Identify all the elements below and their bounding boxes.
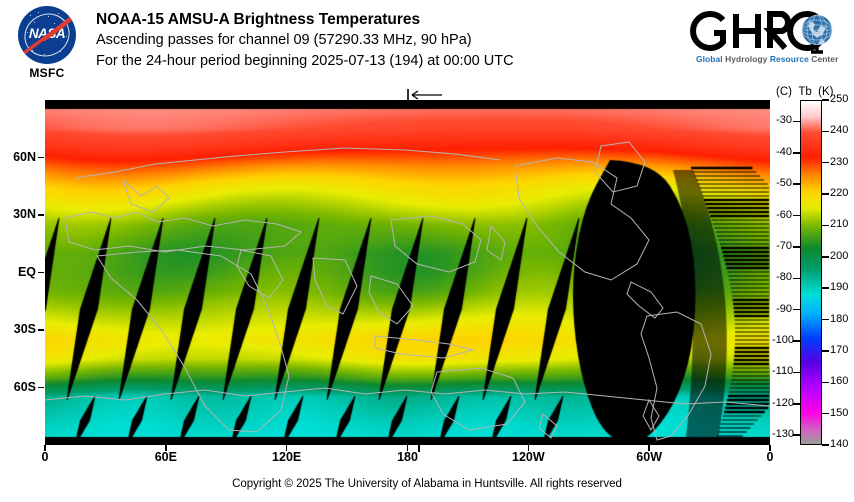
x-axis-tick-1 bbox=[165, 445, 167, 451]
x-axis-label-3: 180 bbox=[378, 450, 438, 464]
colorbar-tick-c-80 bbox=[793, 278, 800, 280]
nasa-meatball-icon: NASA bbox=[18, 6, 76, 64]
colorbar-label-k-170: 170 bbox=[830, 344, 854, 356]
coastline-segment-3 bbox=[97, 250, 289, 432]
colorbar-label-k-220: 220 bbox=[830, 187, 854, 199]
x-axis-label-1: 60E bbox=[136, 450, 196, 464]
colorbar-label-k-150: 150 bbox=[830, 407, 854, 419]
colorbar-label-c-90: -90 bbox=[772, 303, 792, 315]
x-axis-label-5: 60W bbox=[619, 450, 679, 464]
y-axis-label-30S: 30S bbox=[14, 322, 36, 336]
colorbar-label-c-100: -100 bbox=[772, 334, 792, 346]
ghrc-tagline-word-2: Resource bbox=[770, 54, 809, 64]
nasa-swoosh-icon bbox=[18, 10, 76, 62]
colorbar-tick-k-160 bbox=[822, 382, 829, 384]
colorbar-tick-k-180 bbox=[822, 319, 829, 321]
colorbar-tick-c-130 bbox=[793, 434, 800, 436]
colorbar-label-k-140: 140 bbox=[830, 438, 854, 450]
colorbar-tick-c-110 bbox=[793, 372, 800, 374]
colorbar-label-c-130: -130 bbox=[772, 428, 792, 440]
y-axis-tick-30S bbox=[38, 329, 44, 331]
colorbar-label-k-200: 200 bbox=[830, 250, 854, 262]
colorbar-label-c-40: -40 bbox=[772, 146, 792, 158]
x-axis-label-6: 0 bbox=[740, 450, 800, 464]
colorbar-variable: Tb bbox=[798, 86, 811, 98]
x-axis-tick-6 bbox=[769, 445, 771, 451]
coastline-segment-12 bbox=[595, 142, 645, 192]
y-axis-tick-EQ bbox=[38, 272, 44, 274]
x-axis-label-2: 120E bbox=[257, 450, 317, 464]
colorbar-tick-k-200 bbox=[822, 256, 829, 258]
coastline-segment-2 bbox=[123, 180, 169, 212]
colorbar-tick-k-210 bbox=[822, 225, 829, 227]
brightness-temperature-map[interactable] bbox=[45, 100, 770, 445]
coastline-segment-0 bbox=[75, 148, 500, 178]
coastline-segment-17 bbox=[643, 400, 659, 430]
title-block: NOAA-15 AMSU-A Brightness Temperatures A… bbox=[96, 9, 514, 72]
coastline-segment-16 bbox=[45, 388, 770, 406]
colorbar-tick-k-250 bbox=[822, 99, 829, 101]
page-subtitle-channel: Ascending passes for channel 09 (57290.3… bbox=[96, 30, 514, 51]
ghrc-tagline-word-1: Hydrology bbox=[725, 54, 767, 64]
colorbar-unit-celsius: (C) bbox=[776, 86, 792, 98]
y-axis-label-60N: 60N bbox=[13, 150, 36, 164]
colorbar-tick-k-240 bbox=[822, 131, 829, 133]
nasa-logo: NASA MSFC bbox=[10, 6, 84, 84]
y-axis-tick-60S bbox=[38, 387, 44, 389]
y-axis-tick-60N bbox=[38, 157, 44, 159]
coastline-segment-7 bbox=[391, 216, 481, 272]
coastline-segment-10 bbox=[431, 368, 525, 430]
coastline-segment-6 bbox=[369, 276, 413, 324]
colorbar-label-k-180: 180 bbox=[830, 313, 854, 325]
coastline-segment-8 bbox=[487, 226, 505, 260]
x-axis-label-4: 120W bbox=[498, 450, 558, 464]
colorbar-label-c-80: -80 bbox=[772, 271, 792, 283]
colorbar-header: (C) Tb (K) bbox=[776, 86, 834, 98]
colorbar-tick-c-50 bbox=[793, 183, 800, 185]
colorbar-tick-c-60 bbox=[793, 215, 800, 217]
page-title: NOAA-15 AMSU-A Brightness Temperatures bbox=[96, 9, 514, 30]
colorbar-label-c-120: -120 bbox=[772, 397, 792, 409]
coastline-segment-14 bbox=[627, 282, 663, 318]
y-axis-label-30N: 30N bbox=[13, 207, 36, 221]
ghrc-wordmark-icon bbox=[690, 8, 840, 54]
coastline-segment-15 bbox=[641, 312, 711, 440]
coastline-segment-4 bbox=[237, 250, 283, 298]
colorbar-tick-k-220 bbox=[822, 193, 829, 195]
colorbar-tick-c-40 bbox=[793, 152, 800, 154]
colorbar-label-k-250: 250 bbox=[830, 93, 854, 105]
colorbar-label-k-160: 160 bbox=[830, 375, 854, 387]
colorbar-label-k-210: 210 bbox=[830, 218, 854, 230]
colorbar-label-c-30: -30 bbox=[772, 114, 792, 126]
colorbar-tick-k-150 bbox=[822, 413, 829, 415]
x-axis-tick-2 bbox=[286, 445, 288, 451]
colorbar[interactable] bbox=[800, 100, 822, 445]
page-subtitle-period: For the 24-hour period beginning 2025-07… bbox=[96, 51, 514, 72]
x-axis-tick-0 bbox=[44, 445, 46, 451]
x-axis-tick-5 bbox=[648, 445, 650, 451]
colorbar-tick-k-190 bbox=[822, 287, 829, 289]
colorbar-label-k-190: 190 bbox=[830, 281, 854, 293]
colorbar-tick-c-100 bbox=[793, 340, 800, 342]
colorbar-tick-k-140 bbox=[822, 444, 829, 446]
coastline-segment-11 bbox=[539, 414, 557, 438]
colorbar-label-c-110: -110 bbox=[772, 365, 792, 377]
y-axis-label-60S: 60S bbox=[14, 380, 36, 394]
coastline-segment-13 bbox=[515, 158, 649, 280]
colorbar-tick-c-120 bbox=[793, 403, 800, 405]
colorbar-label-c-60: -60 bbox=[772, 209, 792, 221]
coastline-segment-1 bbox=[65, 212, 301, 252]
x-axis-label-0: 0 bbox=[15, 450, 75, 464]
y-axis-label-EQ: EQ bbox=[18, 265, 36, 279]
x-axis-tick-3 bbox=[407, 445, 409, 451]
colorbar-tick-c-30 bbox=[793, 121, 800, 123]
ghrc-tagline-word-3: Center bbox=[811, 54, 838, 64]
colorbar-tick-k-170 bbox=[822, 350, 829, 352]
coastline-segment-9 bbox=[375, 336, 473, 358]
ghrc-tagline-word-0: Global bbox=[696, 54, 723, 64]
colorbar-label-k-230: 230 bbox=[830, 156, 854, 168]
colorbar-tick-c-70 bbox=[793, 246, 800, 248]
copyright-notice: Copyright © 2025 The University of Alaba… bbox=[0, 478, 854, 490]
ghrc-logo: Global Hydrology Resource Center bbox=[690, 8, 840, 74]
colorbar-label-c-70: -70 bbox=[772, 240, 792, 252]
nasa-center-label: MSFC bbox=[10, 66, 84, 80]
y-axis-tick-30N bbox=[38, 214, 44, 216]
coastline-overlay bbox=[45, 100, 770, 445]
coastline-segment-5 bbox=[313, 258, 357, 314]
x-axis-tick-4 bbox=[528, 445, 530, 451]
colorbar-label-k-240: 240 bbox=[830, 124, 854, 136]
orbit-gap-marker-icon bbox=[404, 88, 444, 102]
colorbar-tick-c-90 bbox=[793, 309, 800, 311]
colorbar-label-c-50: -50 bbox=[772, 177, 792, 189]
ghrc-tagline: Global Hydrology Resource Center bbox=[696, 54, 840, 64]
colorbar-tick-k-230 bbox=[822, 162, 829, 164]
